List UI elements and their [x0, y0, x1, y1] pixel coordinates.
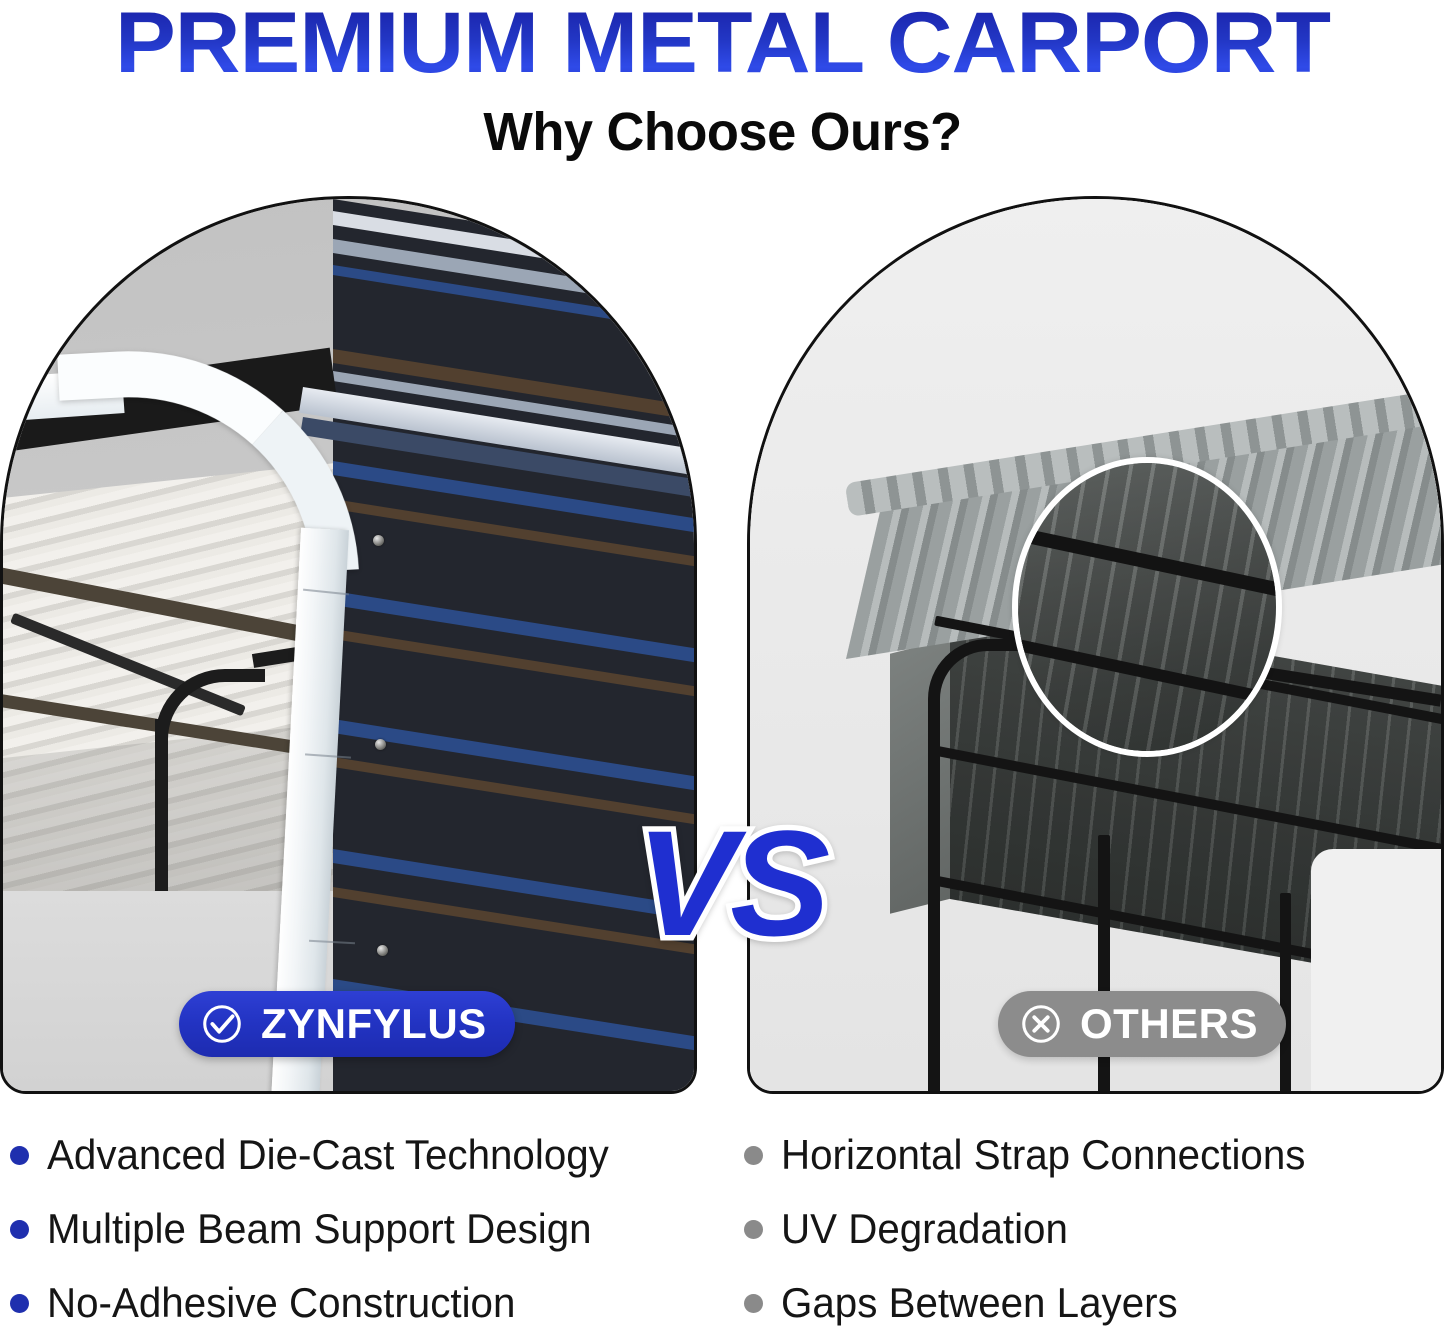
beam-bolt [377, 945, 388, 956]
comparison-panels: ZYNFYLUS [0, 196, 1445, 1096]
frame-post [928, 719, 940, 1094]
badge-zynfylus[interactable]: ZYNFYLUS [179, 991, 515, 1057]
badge-others[interactable]: OTHERS [998, 991, 1286, 1057]
list-item: UV Degradation [744, 1192, 1445, 1266]
others-product-photo [750, 199, 1441, 1091]
frame-post [1280, 893, 1291, 1094]
page-title: PREMIUM METAL CARPORT [0, 2, 1445, 85]
bullet-dot-icon [744, 1146, 763, 1165]
bullet-dot-icon [744, 1294, 763, 1313]
vs-label: VS [636, 808, 824, 958]
feature-comparison-lists: Advanced Die-Cast Technology Multiple Be… [0, 1100, 1445, 1331]
bullet-text: UV Degradation [781, 1205, 1068, 1253]
list-item: Horizontal Strap Connections [744, 1118, 1445, 1192]
zoom-callout-circle [1012, 457, 1282, 757]
panel-zynfylus: ZYNFYLUS [0, 196, 697, 1094]
panel-others: OTHERS [747, 196, 1444, 1094]
bullet-dot-icon [744, 1220, 763, 1239]
page-subtitle: Why Choose Ours? [22, 101, 1424, 163]
bullet-text: Gaps Between Layers [781, 1279, 1178, 1327]
beam-bolt [373, 535, 384, 546]
check-circle-icon [199, 1001, 245, 1047]
badge-others-label: OTHERS [1080, 1003, 1258, 1045]
header: PREMIUM METAL CARPORT Why Choose Ours? [0, 0, 1445, 163]
x-circle-icon [1018, 1001, 1064, 1047]
beam-bolt [375, 739, 386, 750]
zynfylus-product-photo [3, 199, 694, 1091]
bullet-list-others: Horizontal Strap Connections UV Degradat… [0, 1100, 1445, 1340]
badge-zynfylus-label: ZYNFYLUS [261, 1003, 487, 1045]
bullet-text: Horizontal Strap Connections [781, 1131, 1305, 1179]
list-item: Gaps Between Layers [744, 1266, 1445, 1340]
